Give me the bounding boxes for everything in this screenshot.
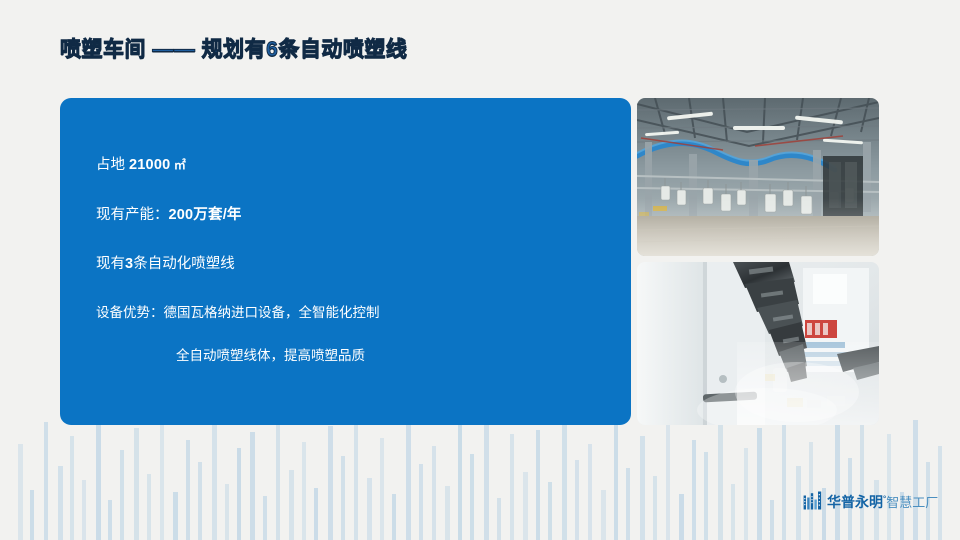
decorative-bar [82,480,86,540]
decorative-bar [198,462,202,540]
decorative-bar [406,418,411,540]
decorative-bar [860,408,864,540]
decorative-bar [640,436,645,540]
decorative-bar [432,446,436,540]
decorative-bar [186,440,190,540]
spec-count-suffix: 条自动化喷塑线 [133,256,235,272]
decorative-bar [328,426,333,540]
decorative-bar [782,414,786,540]
factory-building-icon [803,491,823,510]
decorative-bar [653,476,657,540]
decorative-bar [497,498,501,540]
decorative-bar [225,484,229,540]
spec-line-area: 占地 21000 ㎡ [96,158,186,173]
decorative-bar [614,422,618,540]
photo-workshop-graphic [637,98,879,256]
decorative-bar [341,456,345,540]
spec-line-quality: 全自动喷塑线体，提高喷塑品质 [176,349,365,363]
decorative-bar [666,410,670,540]
spec-advantage-text: 德国瓦格纳进口设备，全智能化控制 [164,305,380,320]
content-panel: 占地 21000 ㎡ 现有产能：200万套/年 现有3条自动化喷塑线 设备优势：… [60,98,631,425]
page-title: 喷塑车间 —— 规划有6条自动喷塑线 [60,33,407,63]
decorative-bar-strip [0,408,960,540]
decorative-bar [744,448,748,540]
spec-area-suffix: ㎡ [170,158,186,172]
decorative-bar [938,446,942,540]
decorative-bar [692,440,696,540]
decorative-bar [484,412,489,540]
decorative-bar [250,432,255,540]
decorative-bar [419,464,423,540]
decorative-bar [30,490,34,540]
photo-robot-graphic [637,262,879,425]
decorative-bar [44,422,48,540]
decorative-bar [679,494,684,540]
decorative-bar [354,408,358,540]
slide-canvas: 喷塑车间 —— 规划有6条自动喷塑线 占地 21000 ㎡ 现有产能：200万套… [0,0,960,540]
spec-count-prefix: 现有 [96,256,125,272]
decorative-bar [70,436,74,540]
decorative-bar [731,484,735,540]
decorative-bar [874,480,879,540]
brand-logo: 华普永明°智慧工厂 [803,491,938,510]
decorative-bar [704,452,708,540]
decorative-bar [548,482,552,540]
decorative-bar [108,500,112,540]
decorative-bar [536,430,540,540]
decorative-bar [367,478,372,540]
spec-advantage-prefix: 设备优势： [96,305,164,320]
spec-line-capacity: 现有产能：200万套/年 [96,208,242,223]
spec-capacity-prefix: 现有产能： [96,207,169,223]
decorative-bar [575,460,579,540]
decorative-bar [458,424,462,540]
decorative-bar [470,454,474,540]
decorative-bar [314,488,318,540]
decorative-bar [173,492,178,540]
decorative-bar [770,500,774,540]
decorative-bar [302,442,306,540]
decorative-bar [120,450,124,540]
decorative-bar [887,434,891,540]
decorative-bar [510,434,514,540]
spec-line-count: 现有3条自动化喷塑线 [96,257,235,272]
decorative-bar [263,496,267,540]
decorative-bar [147,474,151,540]
decorative-bar [289,470,294,540]
decorative-bar [757,428,762,540]
photo-workshop [637,98,879,256]
photo-coating-robot [637,262,879,425]
decorative-bar [237,448,241,540]
decorative-bar [718,418,723,540]
decorative-bar [601,490,606,540]
decorative-bar [392,494,396,540]
logo-wordmark: 华普永明°智慧工厂 [827,495,938,509]
decorative-bar [276,414,280,540]
decorative-bar [18,444,23,540]
decorative-bar [58,466,63,540]
spec-capacity-value: 200万套/年 [169,207,242,223]
decorative-bar [626,468,630,540]
decorative-bar [445,486,450,540]
decorative-bar [96,416,101,540]
spec-line-advantage: 设备优势：德国瓦格纳进口设备，全智能化控制 [96,306,380,320]
spec-quality-text: 全自动喷塑线体，提高喷塑品质 [176,348,365,363]
decorative-bar [835,424,840,540]
decorative-bar [562,416,567,540]
decorative-bar [212,420,217,540]
logo-brand: 华普永明 [827,494,883,510]
decorative-bar [160,410,164,540]
spec-area-prefix: 占地 [96,157,129,173]
decorative-bar [913,420,918,540]
decorative-bar [380,438,384,540]
decorative-bar [523,472,528,540]
spec-area-value: 21000 [129,157,170,173]
decorative-bar [134,428,139,540]
decorative-bar [796,466,801,540]
logo-subbrand: 智慧工厂 [886,495,938,510]
decorative-bar [588,444,592,540]
